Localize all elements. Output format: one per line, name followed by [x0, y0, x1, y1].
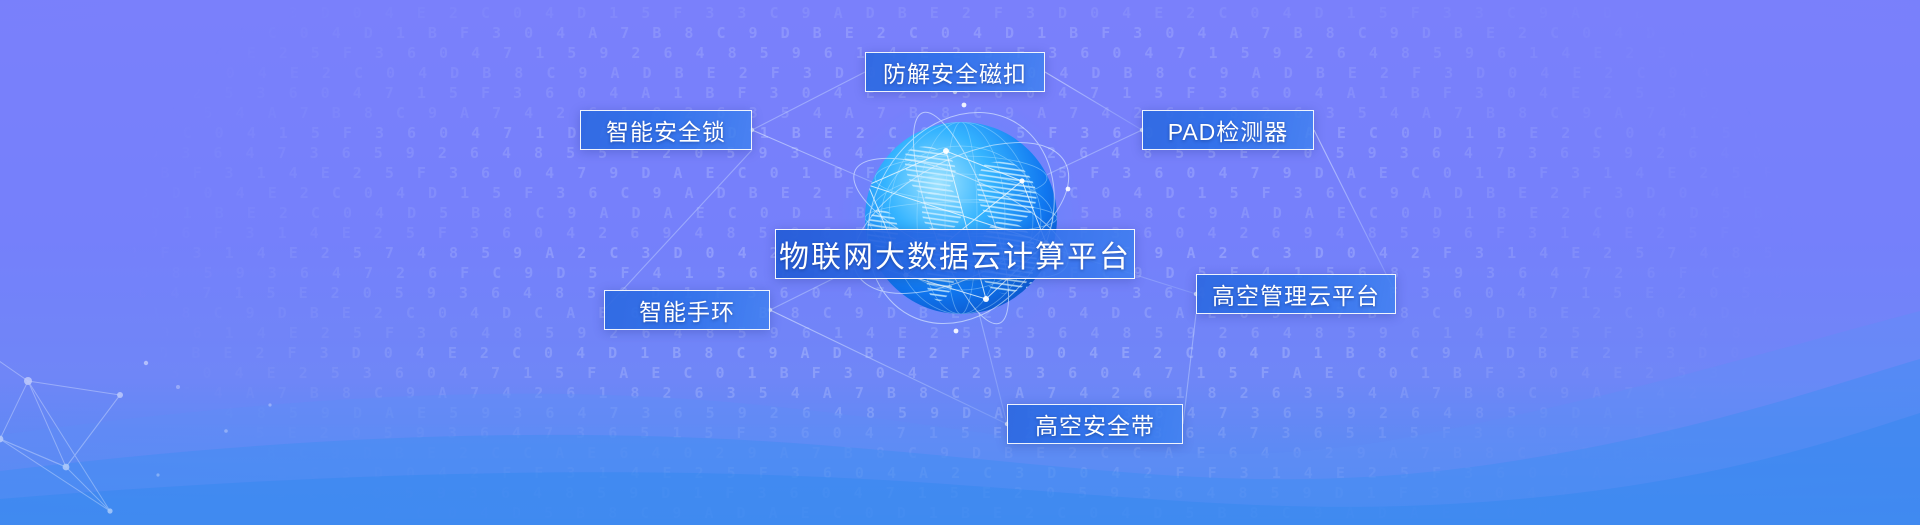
- node-label-pad-detector[interactable]: PAD检测器: [1142, 110, 1314, 150]
- node-label-text: 高空安全带: [1035, 407, 1155, 441]
- node-label-text: PAD检测器: [1168, 113, 1289, 147]
- node-label-text: 智能手环: [639, 293, 735, 327]
- hex-texture-row: A E C 0 1 B F 3 0 4 E 2 5 3 6 0 4 7 1 5 …: [0, 364, 1920, 382]
- node-label-aerial-safety-belt[interactable]: 高空安全带: [1007, 404, 1183, 444]
- hex-texture-row: 7 4 2 6 1 8 2 6 3 5 4 A 7 B 8 C 9 A 7 4 …: [0, 384, 1920, 402]
- node-label-center-platform[interactable]: 物联网大数据云计算平台: [775, 229, 1135, 279]
- node-label-text: 防解安全磁扣: [883, 55, 1027, 89]
- node-label-text: 智能安全锁: [606, 113, 726, 147]
- node-label-smart-wristband[interactable]: 智能手环: [604, 290, 770, 330]
- hex-texture-row: 5 9 3 6 4 7 3 6 5 9 2 6 4 8 5 9 D A E 5 …: [0, 404, 1920, 422]
- hex-texture-row: D 1 F 3 6 0 4 7 1 5 E 2 0 5 9 3 6 4 8 5 …: [0, 484, 1920, 502]
- node-label-smart-security-lock[interactable]: 智能安全锁: [580, 110, 752, 150]
- globe-graphic: [836, 93, 1086, 343]
- hex-texture-row: F 3 1 4 E 2 5 F 3 6 0 4 A 2 C 3 D 0 4 2 …: [0, 464, 1920, 482]
- hex-texture-row: B 8 C 9 A D B E 2 F 3 D 0 4 E 2 C 0 4 D …: [0, 344, 1920, 362]
- hex-texture-row: B 8 C 9 A D A E C 0 D 1 B E 2 C 0 4 D 5 …: [0, 504, 1920, 522]
- node-label-aerial-management-cloud[interactable]: 高空管理云平台: [1196, 274, 1396, 314]
- node-label-anti-unlock-magnetic-buckle[interactable]: 防解安全磁扣: [865, 52, 1045, 92]
- center-label-text: 物联网大数据云计算平台: [779, 232, 1131, 276]
- hex-texture-row: A 7 B 8 C 9 D B E 2 C 0 4 D 1 B F 3 0 4 …: [0, 24, 1920, 42]
- hex-texture-row: 3 C 9 A D B E 2 F 3 D 0 4 E 2 C 0 4 D 1 …: [0, 4, 1920, 22]
- hex-texture-row: C A E 6 4 0 2 9 A 7 B 8 C 9 D B E 2 C C …: [0, 444, 1920, 462]
- hex-texture-row: 1 5 F 3 6 0 4 7 1 5 E 2 0 5 9 3 6 4 7 3 …: [0, 424, 1920, 442]
- node-label-text: 高空管理云平台: [1212, 277, 1380, 311]
- iot-platform-banner: 3 C 9 A D B E 2 F 3 D 0 4 E 2 C 0 4 D 1 …: [0, 0, 1920, 525]
- constellation-decoration: [0, 335, 310, 525]
